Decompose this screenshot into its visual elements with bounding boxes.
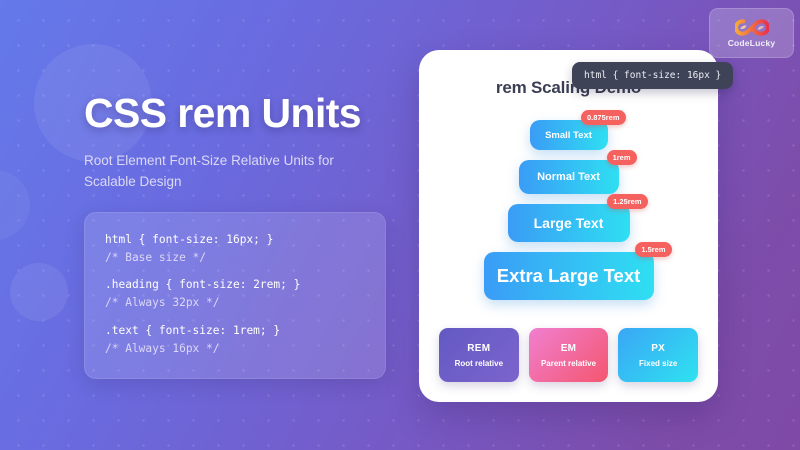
unit-card-em[interactable]: EM Parent relative: [529, 328, 609, 382]
scaling-row: Large Text 1.25rem: [419, 204, 718, 242]
code-line-4: /* Always 32px */: [105, 296, 220, 309]
scaling-pill-extra-large[interactable]: Extra Large Text 1.5rem: [484, 252, 654, 300]
scaling-rows: Small Text 0.875rem Normal Text 1rem Lar…: [419, 120, 718, 310]
brand-logo[interactable]: CodeLucky: [709, 8, 794, 58]
code-line-2: /* Base size */: [105, 251, 206, 264]
code-line-5: .text { font-size: 1rem; }: [105, 324, 280, 337]
scaling-row: Extra Large Text 1.5rem: [419, 252, 718, 300]
scaling-row: Normal Text 1rem: [419, 160, 718, 194]
unit-card-title: EM: [561, 343, 577, 354]
scaling-pill-label: Small Text: [545, 130, 592, 141]
unit-card-subtitle: Parent relative: [541, 359, 596, 368]
decorative-circle-small: [10, 263, 68, 321]
decorative-circle-edge: [0, 170, 30, 240]
scaling-badge: 1.5rem: [635, 242, 671, 257]
brand-logo-text: CodeLucky: [728, 38, 776, 48]
code-line-1: html { font-size: 16px; }: [105, 233, 273, 246]
page-subtitle: Root Element Font-Size Relative Units fo…: [84, 151, 369, 193]
code-line-6: /* Always 16px */: [105, 342, 220, 355]
scaling-row: Small Text 0.875rem: [419, 120, 718, 150]
code-gap-1: [105, 267, 365, 276]
demo-panel: rem Scaling Demo html { font-size: 16px …: [419, 50, 718, 402]
unit-card-title: REM: [467, 343, 490, 354]
scaling-pill-label: Large Text: [534, 215, 604, 231]
slide-canvas: CSS rem Units Root Element Font-Size Rel…: [0, 0, 800, 450]
scaling-badge: 1rem: [607, 150, 637, 165]
scaling-pill-label: Extra Large Text: [497, 265, 641, 287]
scaling-pill-small[interactable]: Small Text 0.875rem: [530, 120, 608, 150]
unit-card-rem[interactable]: REM Root relative: [439, 328, 519, 382]
scaling-pill-label: Normal Text: [537, 171, 600, 183]
scaling-badge: 1.25rem: [607, 194, 647, 209]
code-sample-card: html { font-size: 16px; } /* Base size *…: [84, 212, 386, 379]
unit-card-px[interactable]: PX Fixed size: [618, 328, 698, 382]
scaling-badge: 0.875rem: [581, 110, 626, 125]
unit-card-title: PX: [651, 343, 665, 354]
unit-card-subtitle: Fixed size: [639, 359, 677, 368]
hero-text-block: CSS rem Units Root Element Font-Size Rel…: [84, 92, 404, 193]
code-gap-2: [105, 313, 365, 322]
unit-card-subtitle: Root relative: [455, 359, 503, 368]
unit-comparison-cards: REM Root relative EM Parent relative PX …: [439, 328, 698, 382]
infinity-leaf-icon: [735, 19, 769, 36]
scaling-pill-large[interactable]: Large Text 1.25rem: [508, 204, 630, 242]
page-title: CSS rem Units: [84, 92, 404, 135]
code-line-3: .heading { font-size: 2rem; }: [105, 278, 300, 291]
scaling-pill-normal[interactable]: Normal Text 1rem: [519, 160, 619, 194]
root-font-size-tooltip: html { font-size: 16px }: [572, 62, 733, 89]
